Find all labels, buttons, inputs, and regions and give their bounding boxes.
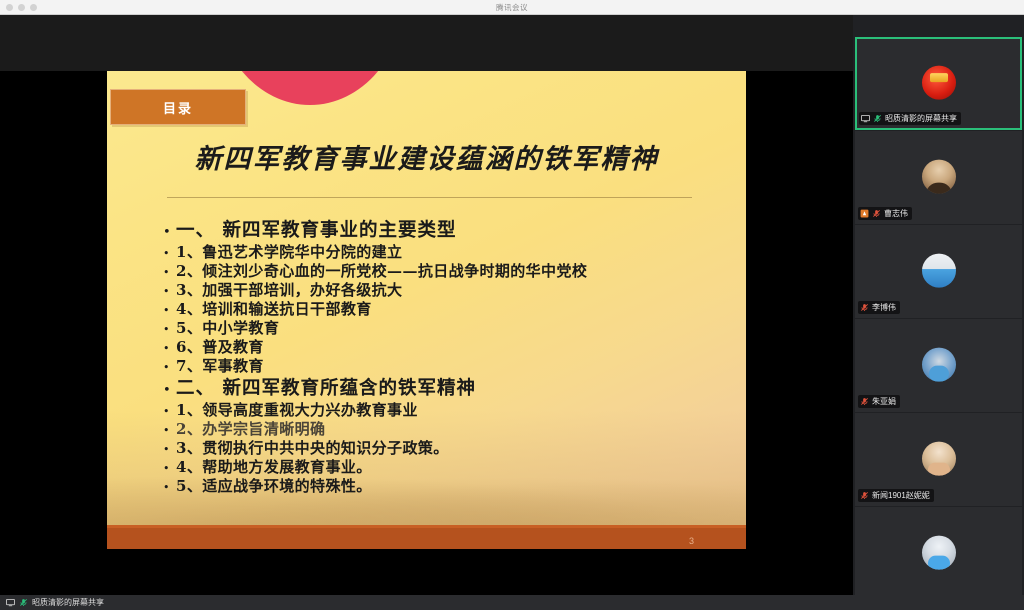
bullet-dot-icon: • xyxy=(163,406,176,417)
participant-name-label: 朱亚娟 xyxy=(858,395,900,408)
window-title: 腾讯会议 xyxy=(0,0,1024,15)
bullet-dot-icon: • xyxy=(163,286,176,297)
slide-bullet-item: •4、培训和输送抗日干部教育 xyxy=(176,300,738,319)
microphone-muted-icon xyxy=(860,303,869,312)
microphone-muted-icon xyxy=(860,491,869,500)
bullet-dot-icon: • xyxy=(163,305,176,316)
slide-bullet-text: 3、贯彻执行中共中央的知识分子政策。 xyxy=(176,439,449,458)
microphone-muted-icon xyxy=(19,598,28,607)
slide-bullet-text: 一、 新四军教育事业的主要类型 xyxy=(176,219,456,243)
bullet-dot-icon: • xyxy=(163,482,176,493)
participant-name-label: 昭质清影的屏幕共享 xyxy=(859,112,961,125)
status-bar: 昭质清影的屏幕共享 xyxy=(0,595,1024,610)
slide-bullet-item: •3、加强干部培训，办好各级抗大 xyxy=(176,281,738,300)
avatar xyxy=(922,65,956,99)
microphone-muted-icon xyxy=(873,114,882,123)
slide-page-number: 3 xyxy=(689,536,694,546)
avatar xyxy=(922,159,956,193)
bullet-dot-icon: • xyxy=(163,463,176,474)
avatar xyxy=(922,347,956,381)
slide-bullet-text: 3、加强干部培训，办好各级抗大 xyxy=(176,281,402,300)
avatar xyxy=(922,535,956,569)
slide-bullet-text: 1、鲁迅艺术学院华中分院的建立 xyxy=(176,243,402,262)
slide-bullet-item: •二、 新四军教育所蕴含的铁军精神 xyxy=(163,377,738,401)
bullet-dot-icon: • xyxy=(163,425,176,436)
slide-bullet-text: 5、适应战争环境的特殊性。 xyxy=(176,477,372,496)
slide-title: 新四军教育事业建设蕴涵的铁军精神 xyxy=(107,137,746,176)
participant-name: 李博伟 xyxy=(872,302,896,313)
participant-name-label: 李博伟 xyxy=(858,301,900,314)
slide-bullet-text: 6、普及教育 xyxy=(176,338,264,357)
host-badge-icon xyxy=(860,209,869,218)
avatar xyxy=(922,253,956,287)
participant-tile[interactable] xyxy=(855,507,1022,600)
shared-screen-stage[interactable]: 目录 新四军教育事业建设蕴涵的铁军精神 •一、 新四军教育事业的主要类型•1、鲁… xyxy=(0,15,853,595)
slide-bullet-item: •6、普及教育 xyxy=(176,338,738,357)
participant-tile[interactable]: 曹志伟 xyxy=(855,131,1022,224)
microphone-muted-icon xyxy=(860,397,869,406)
tencent-meeting-window: 腾讯会议 目录 新四军教育事业建设蕴涵的铁军精神 •一、 新四军教育事业的主要类… xyxy=(0,0,1024,610)
slide-title-divider xyxy=(167,197,692,198)
slide-bullet-item: •5、适应战争环境的特殊性。 xyxy=(176,477,738,496)
slide-bullet-text: 2、办学宗旨清晰明确 xyxy=(176,420,325,439)
slide-bullet-item: •1、领导高度重视大力兴办教育事业 xyxy=(176,401,738,420)
participant-name-label: 新闻1901赵妮妮 xyxy=(858,489,934,502)
slide-bullet-list: •一、 新四军教育事业的主要类型•1、鲁迅艺术学院华中分院的建立•2、倾注刘少奇… xyxy=(163,218,738,496)
slide-bullet-item: •3、贯彻执行中共中央的知识分子政策。 xyxy=(176,439,738,458)
slide-bullet-text: 二、 新四军教育所蕴含的铁军精神 xyxy=(176,377,476,401)
slide-bullet-item: •2、倾注刘少奇心血的一所党校——抗日战争时期的华中党校 xyxy=(176,262,738,281)
slide-bullet-text: 5、中小学教育 xyxy=(176,319,279,338)
meeting-content: 目录 新四军教育事业建设蕴涵的铁军精神 •一、 新四军教育事业的主要类型•1、鲁… xyxy=(0,15,1024,595)
participant-rail[interactable]: 昭质清影的屏幕共享曹志伟李博伟朱亚娟新闻1901赵妮妮 xyxy=(853,15,1024,595)
participant-name: 曹志伟 xyxy=(884,208,908,219)
slide-bullet-item: •一、 新四军教育事业的主要类型 xyxy=(163,219,738,243)
participant-tile[interactable]: 新闻1901赵妮妮 xyxy=(855,413,1022,506)
stage-letterbox-top xyxy=(0,15,853,71)
avatar xyxy=(922,441,956,475)
slide-bullet-text: 1、领导高度重视大力兴办教育事业 xyxy=(176,401,418,420)
bullet-dot-icon: • xyxy=(163,226,176,239)
bullet-dot-icon: • xyxy=(163,384,176,397)
bullet-dot-icon: • xyxy=(163,343,176,354)
bullet-dot-icon: • xyxy=(163,248,176,259)
slide-bullet-text: 7、军事教育 xyxy=(176,357,264,376)
participant-tile[interactable]: 朱亚娟 xyxy=(855,319,1022,412)
screen-share-icon xyxy=(861,114,870,123)
slide-bullet-item: •4、帮助地方发展教育事业。 xyxy=(176,458,738,477)
participant-name: 昭质清影的屏幕共享 xyxy=(885,113,957,124)
window-titlebar: 腾讯会议 xyxy=(0,0,1024,15)
participant-name: 新闻1901赵妮妮 xyxy=(872,490,930,501)
bullet-dot-icon: • xyxy=(163,362,176,373)
slide-bullet-text: 4、帮助地方发展教育事业。 xyxy=(176,458,372,477)
bullet-dot-icon: • xyxy=(163,444,176,455)
participant-tile[interactable]: 李博伟 xyxy=(855,225,1022,318)
bullet-dot-icon: • xyxy=(163,267,176,278)
bullet-dot-icon: • xyxy=(163,324,176,335)
slide-bullet-item: •7、军事教育 xyxy=(176,357,738,376)
slide-bullet-item: •2、办学宗旨清晰明确 xyxy=(176,420,738,439)
slide-bullet-text: 2、倾注刘少奇心血的一所党校——抗日战争时期的华中党校 xyxy=(176,262,587,281)
slide-bullet-item: •5、中小学教育 xyxy=(176,319,738,338)
participant-name-label: 曹志伟 xyxy=(858,207,912,220)
slide-bullet-text: 4、培训和输送抗日干部教育 xyxy=(176,300,372,319)
slide-toc-badge: 目录 xyxy=(110,89,246,125)
presentation-slide: 目录 新四军教育事业建设蕴涵的铁军精神 •一、 新四军教育事业的主要类型•1、鲁… xyxy=(107,71,746,549)
slide-footer-bar xyxy=(107,528,746,549)
screen-share-icon xyxy=(6,598,15,607)
participant-tile[interactable]: 昭质清影的屏幕共享 xyxy=(855,37,1022,130)
status-share-label: 昭质清影的屏幕共享 xyxy=(32,597,104,608)
participant-name: 朱亚娟 xyxy=(872,396,896,407)
slide-bullet-item: •1、鲁迅艺术学院华中分院的建立 xyxy=(176,243,738,262)
microphone-muted-icon xyxy=(872,209,881,218)
